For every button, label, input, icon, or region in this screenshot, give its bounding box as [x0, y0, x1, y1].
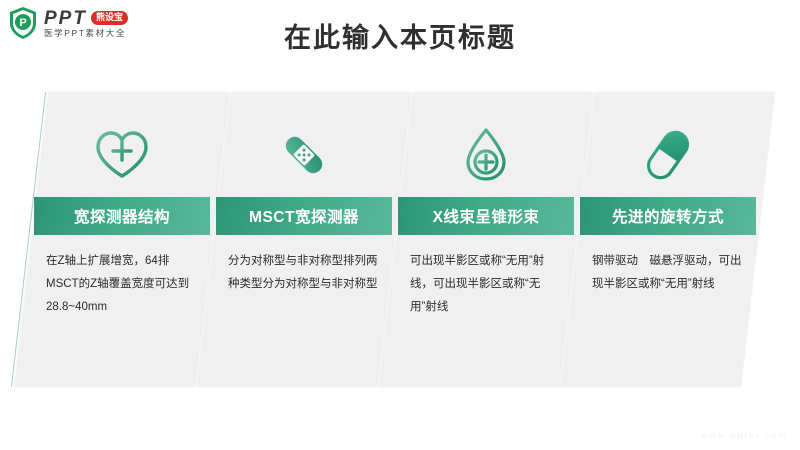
- page-title: 在此输入本页标题: [0, 16, 800, 55]
- card-body-text: 在Z轴上扩展增宽，64排MSCT的Z轴覆盖宽度可达到28.8~40mm: [46, 250, 201, 319]
- feature-card[interactable]: X线束呈锥形束 可出现半影区或称“无用”射线，可出现半影区或称“无用”射线: [379, 92, 593, 387]
- feature-card[interactable]: MSCT宽探测器 分为对称型与非对称型排列两种类型分为对称型与非对称型: [197, 92, 411, 387]
- card-title-band: 先进的旋转方式: [580, 197, 756, 235]
- card-title: 宽探测器结构: [74, 205, 170, 227]
- card-title-band: 宽探测器结构: [34, 197, 210, 235]
- card-title-band: MSCT宽探测器: [216, 197, 392, 235]
- card-title: 先进的旋转方式: [612, 205, 724, 227]
- card-title-band: X线束呈锥形束: [398, 197, 574, 235]
- site-watermark: www.ppter.com: [701, 430, 788, 440]
- feature-card[interactable]: 宽探测器结构 在Z轴上扩展增宽，64排MSCT的Z轴覆盖宽度可达到28.8~40…: [15, 92, 229, 387]
- feature-card[interactable]: 先进的旋转方式 钢带驱动 磁悬浮驱动，可出现半影区或称“无用”射线: [561, 92, 775, 387]
- card-title: X线束呈锥形束: [433, 205, 540, 227]
- card-body-text: 可出现半影区或称“无用”射线，可出现半影区或称“无用”射线: [410, 250, 565, 319]
- capsule-icon: [578, 110, 758, 200]
- droplet-plus-icon: [396, 110, 576, 200]
- card-row: 宽探测器结构 在Z轴上扩展增宽，64排MSCT的Z轴覆盖宽度可达到28.8~40…: [0, 92, 800, 392]
- card-body-text: 钢带驱动 磁悬浮驱动，可出现半影区或称“无用”射线: [592, 250, 747, 296]
- heart-plus-icon: [32, 110, 212, 200]
- card-title: MSCT宽探测器: [249, 205, 359, 227]
- bandage-icon: [214, 110, 394, 200]
- card-body-text: 分为对称型与非对称型排列两种类型分为对称型与非对称型: [228, 250, 383, 296]
